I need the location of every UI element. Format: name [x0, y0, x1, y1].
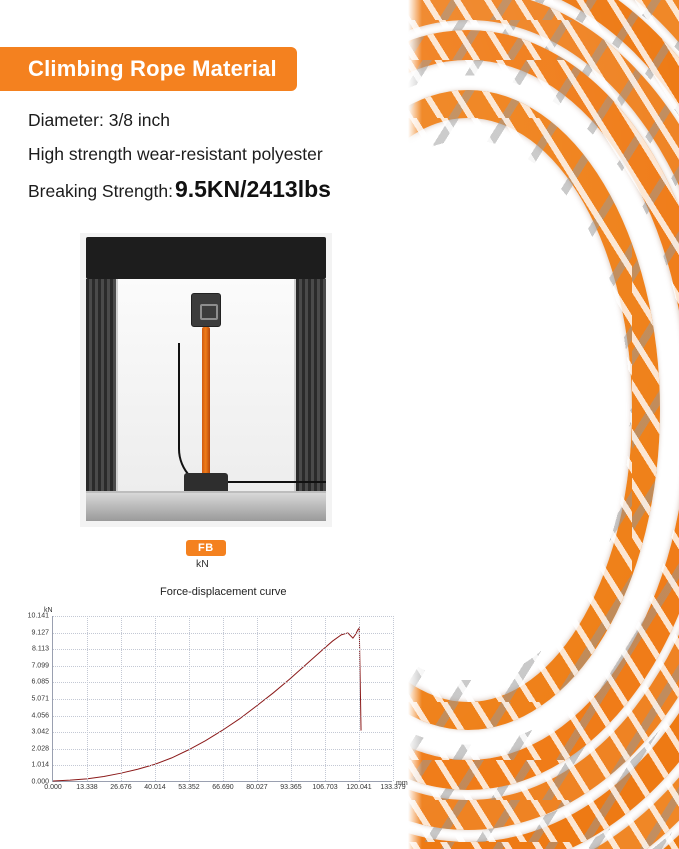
chart-y-tick-label: 4.056	[31, 712, 49, 719]
rope-shading-overlay	[408, 0, 679, 849]
chart-x-tick-label: 93.365	[280, 784, 301, 791]
chart-gridline-vertical	[257, 616, 258, 781]
chart-y-tick-label: 6.085	[31, 679, 49, 686]
chart-gridline-vertical	[291, 616, 292, 781]
force-badge-unit: kN	[196, 558, 209, 570]
chart-y-tick-label: 2.028	[31, 745, 49, 752]
rig-left-wall	[86, 279, 116, 491]
chart-x-tick-label: 120.041	[346, 784, 371, 791]
rope-product-photo	[408, 0, 679, 849]
chart-gridline-vertical	[121, 616, 122, 781]
chart-x-tick-label: 26.676	[110, 784, 131, 791]
chart-gridline-vertical	[155, 616, 156, 781]
rig-floor	[86, 491, 326, 521]
chart-y-tick-label: 3.042	[31, 729, 49, 736]
chart-y-tick-label: 8.113	[32, 646, 49, 653]
chart-gridline-vertical	[393, 616, 394, 781]
spec-diameter: Diameter: 3/8 inch	[28, 110, 170, 131]
chart-x-tick-label: 106.703	[312, 784, 337, 791]
tensile-test-rig-photo	[80, 233, 332, 527]
force-displacement-chart: Force-displacement curve kN mm 0.0001.01…	[0, 580, 412, 810]
chart-gridline-vertical	[325, 616, 326, 781]
product-info-page: Climbing Rope Material Diameter: 3/8 inc…	[0, 0, 679, 849]
spec-material: High strength wear-resistant polyester	[28, 144, 323, 165]
rig-rope-sample	[202, 327, 210, 477]
chart-x-tick-label: 133.379	[380, 784, 405, 791]
chart-y-tick-label: 5.071	[31, 696, 49, 703]
spec-breaking-strength-label: Breaking Strength:	[28, 181, 173, 202]
rig-upper-clamp	[191, 293, 221, 327]
rig-right-wall	[296, 279, 326, 491]
chart-y-tick-label: 10.141	[28, 613, 49, 620]
left-info-column: Climbing Rope Material Diameter: 3/8 inc…	[0, 0, 412, 849]
chart-gridline-vertical	[359, 616, 360, 781]
rope-coil-illustration	[408, 0, 679, 849]
chart-series-force	[53, 628, 361, 781]
spec-breaking-strength-value: 9.5KN/2413lbs	[175, 176, 331, 203]
chart-plot-area: 0.0001.0142.0283.0424.0565.0716.0857.099…	[52, 616, 392, 782]
spec-breaking-strength: Breaking Strength: 9.5KN/2413lbs	[28, 176, 331, 203]
chart-gridline-vertical	[223, 616, 224, 781]
chart-x-tick-label: 40.014	[144, 784, 165, 791]
chart-y-tick-label: 1.014	[31, 762, 49, 769]
page-title-banner: Climbing Rope Material	[0, 47, 297, 91]
rig-sensor-cable	[178, 343, 218, 489]
chart-x-tick-label: 0.000	[44, 784, 62, 791]
chart-x-tick-label: 80.027	[246, 784, 267, 791]
chart-gridline-vertical	[189, 616, 190, 781]
chart-x-tick-label: 13.338	[76, 784, 97, 791]
chart-x-tick-label: 53.352	[178, 784, 199, 791]
chart-gridline-vertical	[87, 616, 88, 781]
chart-y-tick-label: 9.127	[31, 629, 49, 636]
chart-title: Force-displacement curve	[160, 586, 287, 598]
rig-top-beam	[86, 237, 326, 279]
force-badge: FB	[186, 540, 226, 556]
chart-y-tick-label: 7.099	[31, 662, 49, 669]
chart-x-tick-label: 66.690	[212, 784, 233, 791]
page-title: Climbing Rope Material	[28, 56, 277, 82]
